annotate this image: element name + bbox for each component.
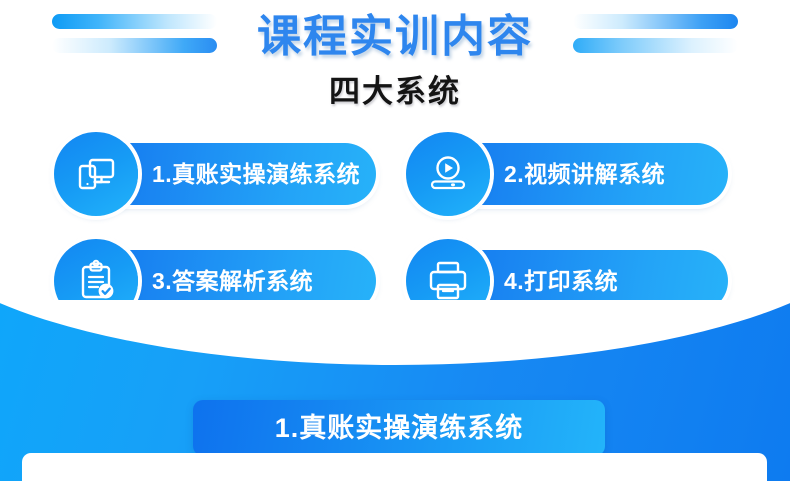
monitor-tablet-icon bbox=[54, 132, 138, 216]
bottom-section: 1.真账实操演练系统 bbox=[0, 300, 790, 481]
video-player-icon bbox=[406, 132, 490, 216]
system-card-grid: 1.真账实操演练系统 2.视频讲解系统 bbox=[0, 135, 790, 325]
page-subtitle: 四大系统 bbox=[0, 70, 790, 114]
system-card-1[interactable]: 1.真账实操演练系统 bbox=[80, 143, 376, 205]
section-banner-label: 1.真账实操演练系统 bbox=[193, 400, 605, 456]
page-header: 课程实训内容 四大系统 bbox=[0, 0, 790, 125]
promo-page: 课程实训内容 四大系统 1.真账实操演练系统 bbox=[0, 0, 790, 481]
system-card-2[interactable]: 2.视频讲解系统 bbox=[432, 143, 728, 205]
system-card-label: 1.真账实操演练系统 bbox=[152, 143, 360, 205]
section-banner: 1.真账实操演练系统 bbox=[193, 400, 605, 456]
system-card-label: 2.视频讲解系统 bbox=[504, 143, 665, 205]
content-panel bbox=[22, 453, 767, 481]
page-title: 课程实训内容 bbox=[0, 8, 790, 66]
